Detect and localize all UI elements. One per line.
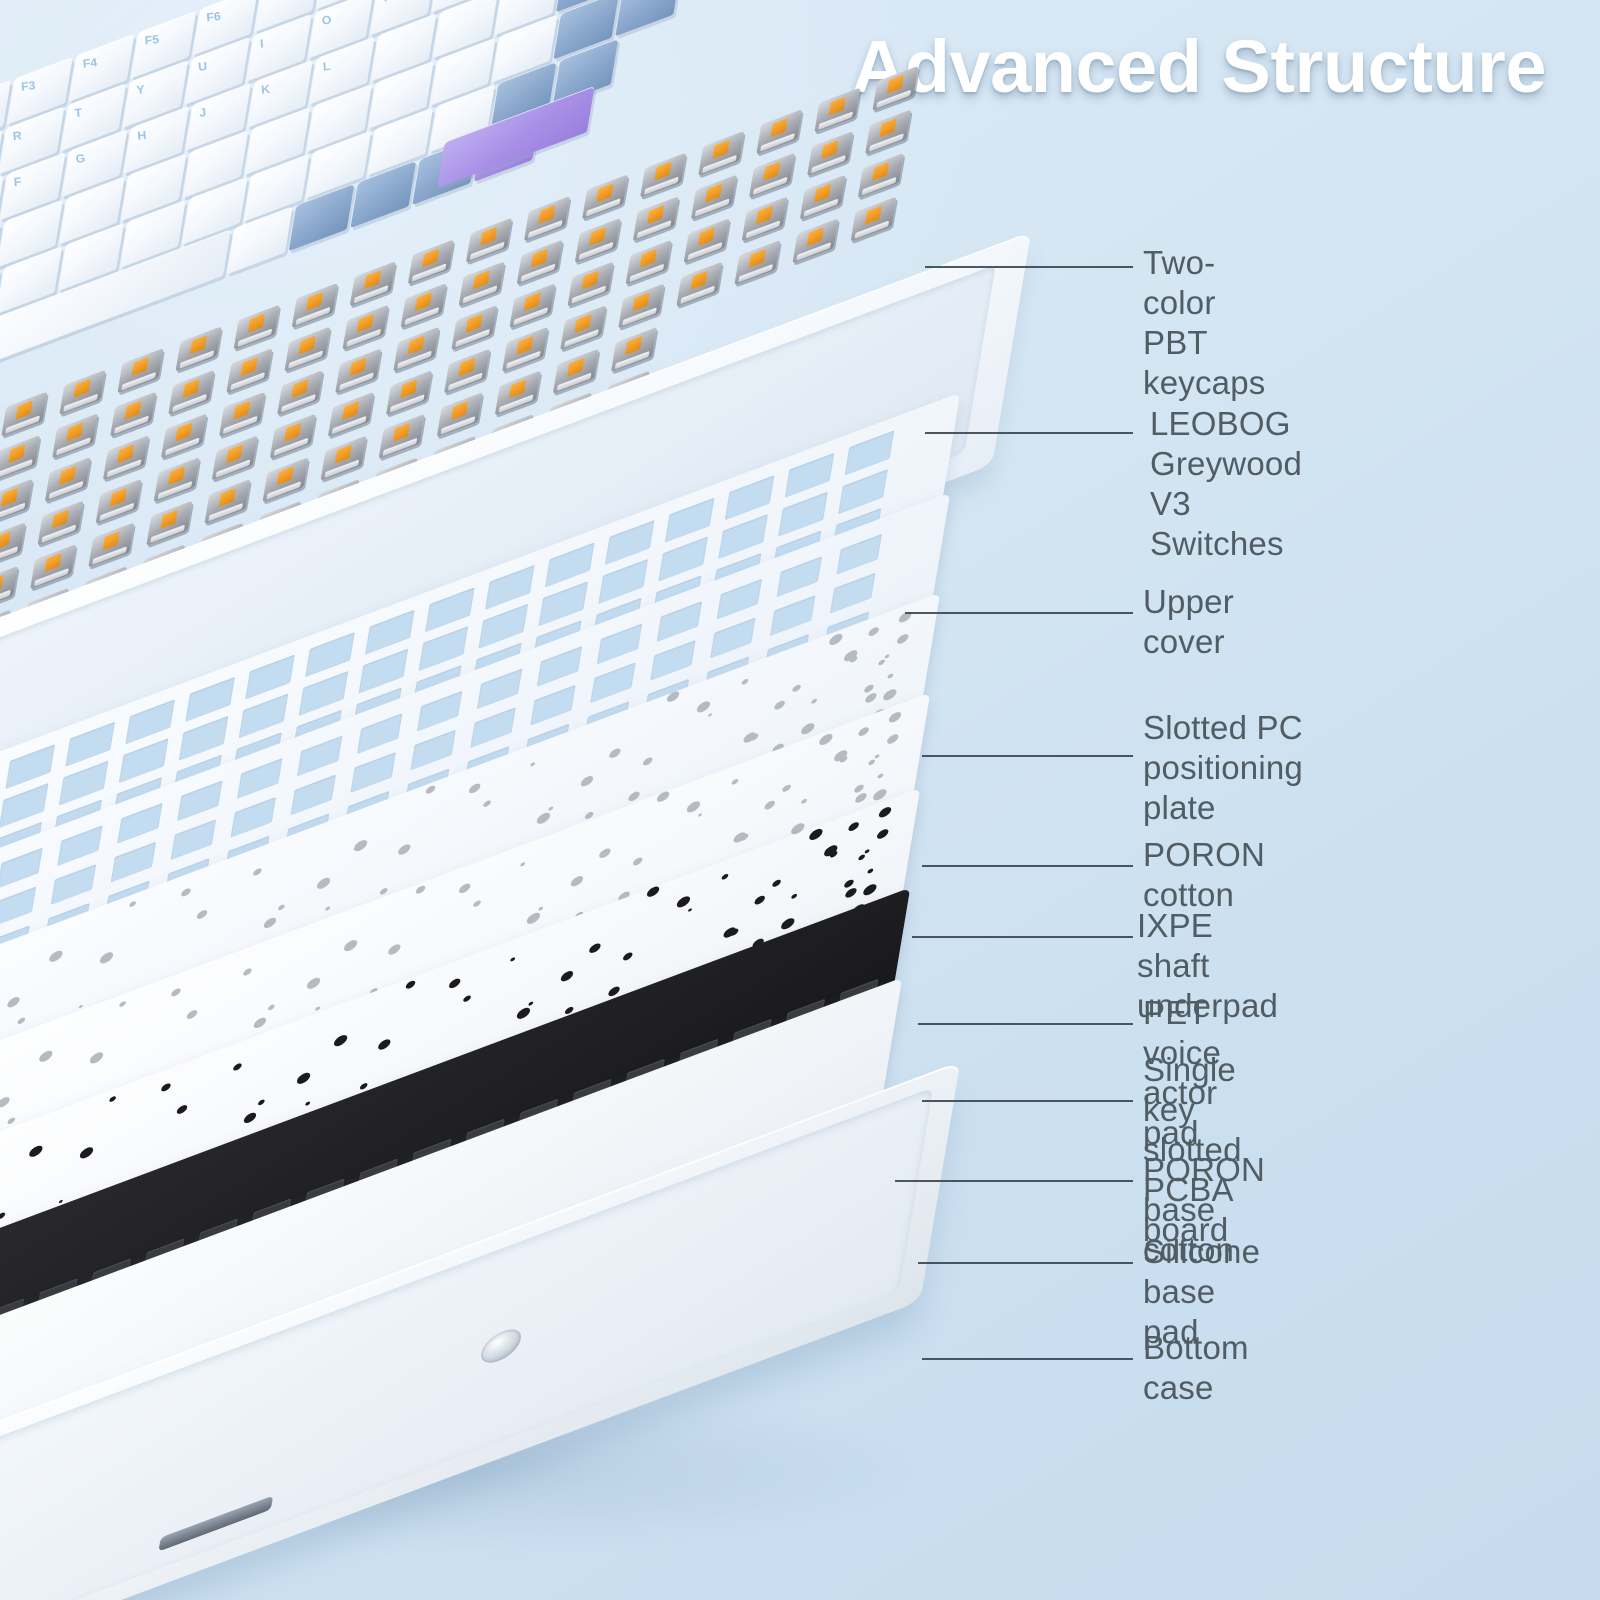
plate-cutout bbox=[470, 707, 515, 748]
solder-hole bbox=[325, 906, 330, 911]
solder-hole bbox=[263, 916, 277, 930]
mechanical-switch bbox=[52, 413, 98, 458]
solder-hole bbox=[829, 632, 844, 647]
plate-cutout bbox=[0, 848, 43, 889]
mechanical-switch bbox=[95, 479, 141, 524]
solder-hole bbox=[278, 904, 285, 911]
mechanical-switch bbox=[495, 370, 541, 415]
leader-line-keycaps bbox=[925, 266, 1133, 268]
mechanical-switch bbox=[219, 392, 265, 437]
mechanical-switch bbox=[0, 479, 33, 524]
mechanical-switch bbox=[734, 240, 780, 285]
solder-hole bbox=[868, 759, 875, 766]
mechanical-switch bbox=[792, 218, 838, 263]
solder-hole bbox=[886, 733, 899, 746]
keycap-legend: L bbox=[322, 59, 331, 73]
plate-cutout bbox=[0, 887, 36, 928]
solder-hole bbox=[772, 879, 781, 889]
keycap-legend: P bbox=[383, 0, 392, 4]
solder-hole bbox=[708, 713, 712, 717]
solder-hole bbox=[536, 811, 551, 826]
mechanical-switch bbox=[0, 435, 40, 480]
solder-hole bbox=[526, 911, 541, 926]
solder-hole bbox=[780, 916, 795, 931]
plate-cutout bbox=[477, 668, 522, 709]
solder-hole bbox=[643, 756, 654, 767]
solder-hole bbox=[868, 626, 880, 638]
mechanical-switch bbox=[262, 457, 308, 502]
plate-cutout bbox=[770, 595, 815, 636]
mechanical-switch bbox=[618, 283, 664, 328]
keycap-legend: F6 bbox=[206, 9, 221, 24]
mechanical-switch bbox=[110, 392, 156, 437]
solder-hole bbox=[764, 799, 776, 811]
solder-hole bbox=[864, 849, 869, 854]
plate-cutout bbox=[537, 646, 582, 687]
plate-cutout bbox=[597, 624, 642, 665]
leader-line-poron1 bbox=[922, 865, 1133, 867]
leader-line-silicone bbox=[918, 1262, 1133, 1264]
solder-hole bbox=[316, 876, 331, 891]
solder-hole bbox=[7, 995, 21, 1009]
solder-hole bbox=[28, 1144, 43, 1159]
solder-hole bbox=[882, 687, 897, 702]
solder-hole bbox=[161, 1082, 172, 1093]
solder-hole bbox=[877, 773, 883, 779]
solder-hole bbox=[743, 731, 757, 745]
solder-hole bbox=[862, 882, 877, 897]
mechanical-switch bbox=[400, 283, 446, 328]
mechanical-switch bbox=[30, 544, 76, 589]
keycap-legend: F4 bbox=[82, 55, 97, 70]
solder-hole bbox=[580, 774, 594, 788]
mechanical-switch bbox=[575, 218, 621, 263]
leader-line-poron2 bbox=[895, 1180, 1133, 1182]
solder-hole bbox=[0, 1212, 6, 1220]
mechanical-switch bbox=[0, 522, 26, 567]
solder-hole bbox=[268, 1004, 275, 1011]
leader-line-pcba bbox=[922, 1100, 1133, 1102]
mechanical-switch bbox=[676, 262, 722, 307]
solder-hole bbox=[811, 698, 817, 704]
solder-hole bbox=[801, 798, 807, 804]
solder-hole bbox=[528, 1001, 533, 1006]
callout-label-keycaps: Two-color PBT keycaps bbox=[1143, 243, 1265, 403]
solder-hole bbox=[896, 633, 909, 646]
solder-hole bbox=[99, 950, 114, 965]
solder-hole bbox=[676, 894, 691, 909]
plate-cutout bbox=[57, 825, 102, 866]
keycap-legend: H bbox=[137, 128, 147, 143]
solder-hole bbox=[59, 1199, 63, 1203]
keycap-legend: F3 bbox=[21, 78, 36, 93]
mechanical-switch bbox=[567, 261, 613, 306]
solder-hole bbox=[548, 806, 553, 811]
solder-hole bbox=[731, 778, 738, 785]
solder-hole bbox=[243, 967, 252, 977]
solder-hole bbox=[510, 957, 515, 962]
mechanical-switch bbox=[204, 479, 250, 524]
solder-hole bbox=[589, 942, 602, 955]
plate-cutout bbox=[357, 713, 402, 754]
solder-hole bbox=[570, 874, 584, 888]
mechanical-switch bbox=[800, 175, 846, 220]
solder-hole bbox=[538, 906, 543, 911]
solder-hole bbox=[315, 1006, 320, 1011]
solder-hole bbox=[876, 828, 889, 841]
leader-line-pet bbox=[918, 1023, 1133, 1025]
callout-label-poron1: PORON cotton bbox=[1143, 835, 1265, 915]
solder-hole bbox=[448, 977, 461, 990]
mechanical-switch bbox=[502, 327, 548, 372]
mechanical-switch bbox=[611, 327, 657, 372]
plate-cutout bbox=[410, 730, 455, 771]
exploded-keyboard-assembly: EscF1F2F3F4F5F6F7F8F9QWERTYUIOPASDFGHJKL… bbox=[0, 0, 1060, 1600]
plate-cutout bbox=[590, 662, 635, 703]
solder-hole bbox=[306, 976, 321, 991]
solder-hole bbox=[129, 900, 136, 907]
mechanical-switch bbox=[146, 501, 192, 546]
solder-hole bbox=[233, 1062, 242, 1072]
mechanical-switch bbox=[437, 392, 483, 437]
mechanical-switch bbox=[168, 370, 214, 415]
solder-hole bbox=[468, 782, 481, 795]
mechanical-switch bbox=[226, 348, 272, 393]
solder-hole bbox=[686, 799, 701, 814]
solder-hole bbox=[733, 831, 747, 845]
solder-hole bbox=[845, 887, 858, 900]
solder-hole bbox=[109, 1095, 116, 1102]
mechanical-switch bbox=[88, 522, 134, 567]
mechanical-switch bbox=[284, 326, 330, 371]
solder-hole bbox=[888, 710, 902, 724]
solder-hole bbox=[792, 684, 801, 694]
solder-hole bbox=[119, 1000, 126, 1007]
solder-hole bbox=[741, 678, 748, 685]
solder-hole bbox=[774, 699, 786, 711]
keycap-legend: F bbox=[13, 175, 22, 189]
mechanical-switch bbox=[865, 109, 911, 154]
solder-hole bbox=[387, 943, 401, 957]
callout-label-pcplate: Slotted PC positioning plate bbox=[1143, 708, 1303, 828]
solder-hole bbox=[379, 887, 387, 895]
keycap-legend: Y bbox=[136, 82, 145, 97]
callout-label-switches: LEOBOG Greywood V3 Switches bbox=[1150, 404, 1302, 564]
infographic-canvas: Advanced Structure EscF1F2F3F4F5F6F7F8F9… bbox=[0, 0, 1600, 1600]
solder-hole bbox=[353, 838, 368, 853]
solder-hole bbox=[253, 867, 262, 877]
solder-hole bbox=[483, 799, 491, 807]
keycap-legend: F7 bbox=[268, 0, 283, 1]
solder-hole bbox=[874, 754, 879, 759]
solder-hole bbox=[520, 862, 525, 867]
solder-hole bbox=[855, 792, 868, 805]
mechanical-switch bbox=[749, 153, 795, 198]
mechanical-switch bbox=[553, 349, 599, 394]
leader-line-switches bbox=[925, 432, 1133, 434]
mechanical-switch bbox=[161, 413, 207, 458]
mechanical-switch bbox=[633, 196, 679, 241]
plate-cutout bbox=[650, 640, 695, 681]
solder-hole bbox=[458, 882, 471, 895]
solder-hole bbox=[186, 1009, 198, 1021]
plate-cutout bbox=[657, 601, 702, 642]
mechanical-switch bbox=[37, 500, 83, 545]
solder-hole bbox=[48, 949, 63, 964]
keycap-legend: F5 bbox=[144, 32, 159, 47]
solder-hole bbox=[633, 856, 644, 867]
solder-hole bbox=[296, 1071, 311, 1086]
leader-line-bottom bbox=[922, 1358, 1133, 1360]
keycap-legend: G bbox=[75, 151, 86, 166]
plate-cutout bbox=[830, 573, 875, 614]
plate-cutout bbox=[350, 752, 395, 793]
keycap-legend: J bbox=[199, 105, 207, 119]
solder-hole bbox=[782, 784, 791, 794]
plate-cutout bbox=[171, 819, 216, 860]
solder-hole bbox=[878, 659, 885, 666]
mechanical-switch bbox=[335, 348, 381, 393]
leader-line-ixpe bbox=[912, 936, 1133, 938]
solder-hole bbox=[848, 821, 860, 833]
solder-hole bbox=[800, 721, 815, 736]
mechanical-switch bbox=[379, 414, 425, 459]
solder-hole bbox=[723, 926, 737, 940]
solder-hole bbox=[473, 899, 481, 907]
solder-hole bbox=[698, 813, 702, 817]
plate-cutout bbox=[717, 579, 762, 620]
plate-cutout bbox=[530, 685, 575, 726]
solder-hole bbox=[688, 908, 692, 912]
solder-hole bbox=[305, 1101, 310, 1106]
solder-hole bbox=[858, 726, 870, 738]
mechanical-switch bbox=[212, 435, 258, 480]
solder-hole bbox=[0, 1095, 10, 1109]
solder-hole bbox=[516, 1006, 531, 1021]
plate-cutout bbox=[177, 780, 222, 821]
mechanical-switch bbox=[270, 414, 316, 459]
solder-hole bbox=[79, 1145, 94, 1160]
mechanical-switch bbox=[451, 305, 497, 350]
mechanical-switch bbox=[0, 566, 18, 611]
solder-hole bbox=[463, 994, 471, 1002]
mechanical-switch bbox=[386, 370, 432, 415]
solder-hole bbox=[89, 1050, 104, 1065]
solder-hole bbox=[17, 1017, 25, 1025]
solder-hole bbox=[253, 1016, 267, 1030]
solder-hole bbox=[609, 747, 622, 760]
mechanical-switch bbox=[625, 240, 671, 285]
plate-cutout bbox=[237, 758, 282, 799]
solder-hole bbox=[754, 894, 766, 906]
solder-hole bbox=[333, 1033, 348, 1048]
solder-hole bbox=[79, 1004, 83, 1008]
mechanical-switch bbox=[154, 457, 200, 502]
solder-hole bbox=[696, 699, 711, 714]
solder-hole bbox=[791, 893, 797, 899]
solder-hole bbox=[176, 1104, 188, 1116]
solder-hole bbox=[887, 673, 893, 679]
solder-hole bbox=[560, 969, 574, 983]
mechanical-switch bbox=[328, 392, 374, 437]
mechanical-switch bbox=[517, 240, 563, 285]
solder-hole bbox=[405, 979, 416, 990]
mechanical-switch bbox=[807, 131, 853, 176]
keycap-legend: T bbox=[74, 106, 83, 120]
mechanical-switch bbox=[683, 218, 729, 263]
solder-hole bbox=[858, 854, 865, 861]
solder-hole bbox=[397, 843, 411, 857]
solder-hole bbox=[721, 873, 728, 880]
mechanical-switch bbox=[458, 261, 504, 306]
keycap-legend: R bbox=[12, 129, 22, 144]
solder-hole bbox=[809, 827, 824, 842]
plate-cutout bbox=[290, 774, 335, 815]
leader-line-pcplate bbox=[922, 755, 1133, 757]
solder-hole bbox=[865, 692, 878, 705]
keycap-legend: O bbox=[321, 13, 332, 28]
solder-hole bbox=[599, 847, 612, 860]
solder-hole bbox=[181, 887, 192, 898]
plate-cutout bbox=[836, 534, 881, 575]
plate-cutout bbox=[111, 842, 156, 883]
callout-label-bottom: Bottom case bbox=[1143, 1328, 1249, 1408]
solder-hole bbox=[343, 938, 358, 953]
plate-cutout bbox=[117, 803, 162, 844]
mechanical-switch bbox=[320, 436, 366, 481]
mechanical-switch bbox=[858, 153, 904, 198]
leader-line-upper bbox=[905, 612, 1133, 614]
mechanical-switch bbox=[393, 327, 439, 372]
mechanical-switch bbox=[742, 196, 788, 241]
solder-hole bbox=[530, 762, 535, 767]
solder-hole bbox=[243, 1111, 257, 1125]
solder-hole bbox=[623, 951, 634, 962]
plate-cutout bbox=[231, 797, 276, 838]
plate-cutout bbox=[417, 691, 462, 732]
solder-hole bbox=[819, 732, 834, 747]
mechanical-switch bbox=[560, 305, 606, 350]
keycap-legend: I bbox=[260, 37, 264, 51]
solder-hole bbox=[258, 1099, 265, 1106]
keycap-legend: K bbox=[261, 82, 271, 97]
keycap bbox=[615, 0, 681, 36]
mechanical-switch bbox=[342, 305, 388, 350]
plate-cutout bbox=[710, 618, 755, 659]
solder-hole bbox=[377, 1038, 391, 1052]
keycap-legend: U bbox=[198, 59, 208, 74]
mechanical-switch bbox=[277, 370, 323, 415]
solder-hole bbox=[884, 654, 889, 659]
solder-hole bbox=[878, 805, 892, 819]
plate-cutout bbox=[297, 736, 342, 777]
callout-label-upper: Upper cover bbox=[1143, 582, 1234, 662]
mechanical-switch bbox=[509, 283, 555, 328]
mechanical-switch bbox=[103, 435, 149, 480]
mechanical-switch bbox=[691, 174, 737, 219]
solder-hole bbox=[38, 1049, 53, 1064]
mechanical-switch bbox=[45, 457, 91, 502]
solder-hole bbox=[425, 784, 436, 795]
solder-hole bbox=[867, 868, 873, 874]
mechanical-switch bbox=[444, 348, 490, 393]
solder-hole bbox=[196, 909, 208, 921]
solder-hole bbox=[171, 987, 182, 998]
solder-hole bbox=[359, 1082, 367, 1090]
plate-cutout bbox=[777, 556, 822, 597]
mechanical-switch bbox=[850, 196, 896, 241]
plate-cutout bbox=[51, 864, 96, 905]
solder-hole bbox=[7, 1117, 15, 1125]
solder-hole bbox=[415, 884, 426, 895]
